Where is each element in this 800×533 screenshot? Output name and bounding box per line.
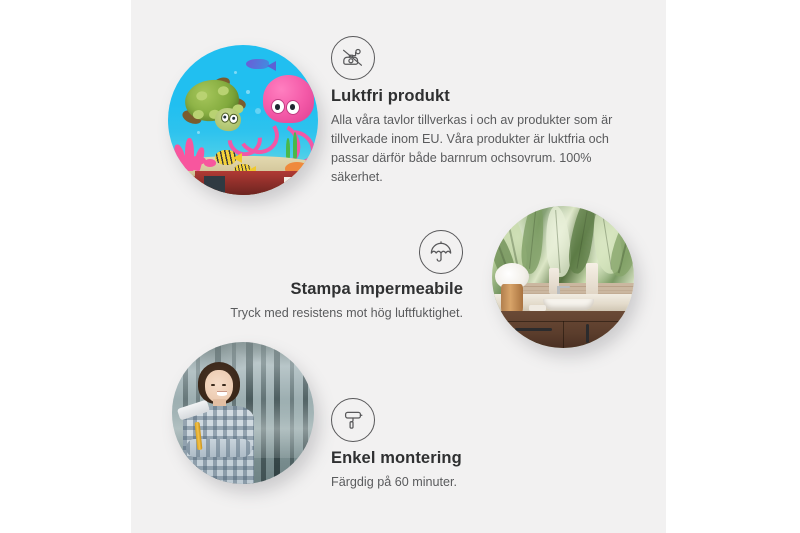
- underwater-scene: [168, 45, 318, 195]
- forest-scene: [172, 342, 314, 484]
- paint-roller-icon-wrap: [331, 398, 591, 442]
- paint-roller-icon: [331, 398, 375, 442]
- feature-odorless-product: Luktfri produkt Alla våra tavlor tillver…: [331, 36, 631, 187]
- umbrella-icon: [419, 230, 463, 274]
- sink: [543, 299, 594, 310]
- feature-description: Alla våra tavlor tillverkas i och av pro…: [331, 111, 631, 188]
- no-fragrance-icon-wrap: [331, 36, 631, 80]
- feature-waterproof-print: Stampa impermeabile Tryck med resistens …: [213, 230, 463, 323]
- feature-description: Färgdig på 60 minuter.: [331, 473, 591, 492]
- octopus: [263, 75, 314, 123]
- feature-title: Enkel montering: [331, 449, 591, 469]
- bathroom-tropical-wallpaper-photo: [492, 206, 634, 348]
- umbrella-icon-wrap: [213, 230, 463, 274]
- vanity-cabinet: [501, 311, 634, 348]
- cabinet-handle: [586, 324, 590, 343]
- bathroom-scene: [492, 206, 634, 348]
- feature-title: Stampa impermeabile: [213, 280, 463, 300]
- feature-description: Tryck med resistens mot hög luftfuktighe…: [213, 304, 463, 323]
- drawer-handle: [515, 328, 552, 331]
- feature-title: Luktfri produkt: [331, 87, 631, 107]
- product-feature-graphic: Luktfri produkt Alla våra tavlor tillver…: [0, 0, 800, 533]
- no-fragrance-icon: [331, 36, 375, 80]
- woman-paint-roller-forest-photo: [172, 342, 314, 484]
- feature-easy-assembly: Enkel montering Färgdig på 60 minuter.: [331, 398, 591, 492]
- underwater-kids-mural-photo: [168, 45, 318, 195]
